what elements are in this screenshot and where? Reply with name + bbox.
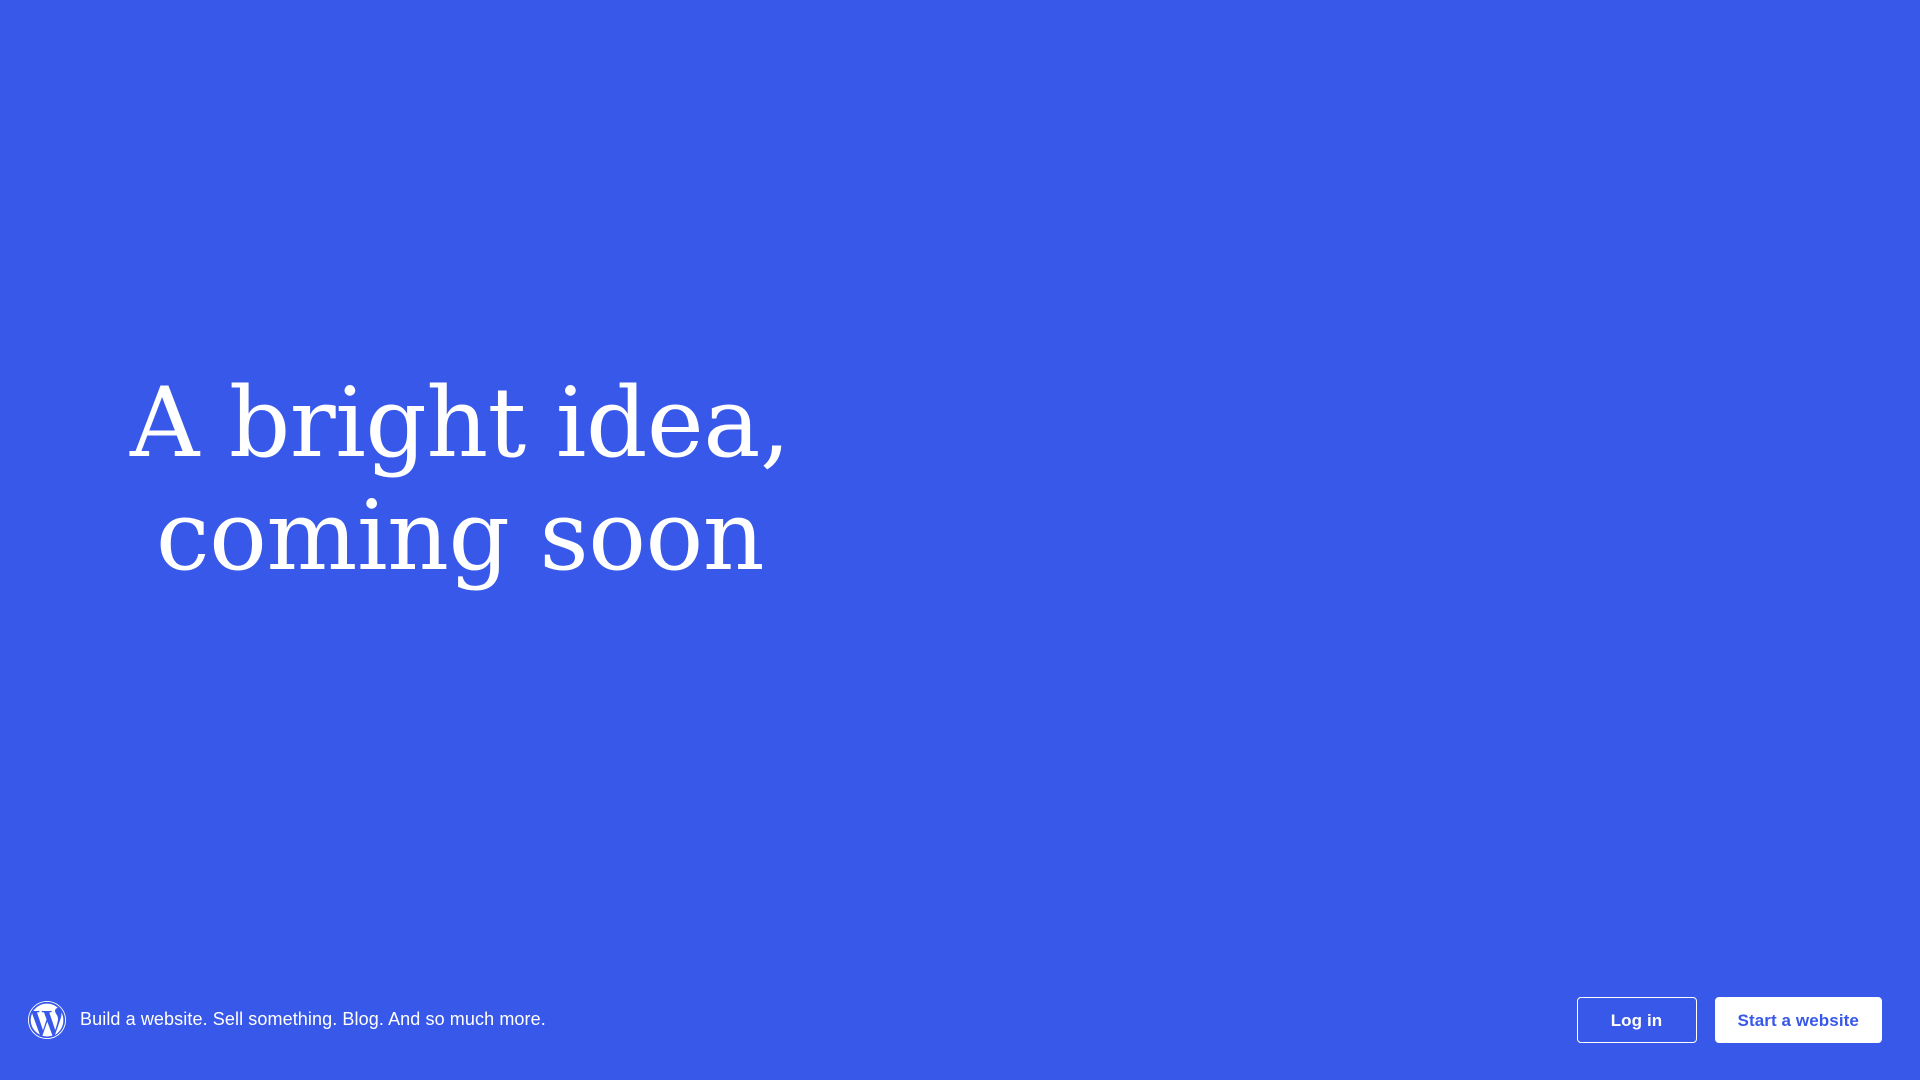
- page-title: A bright idea, coming soon: [130, 367, 790, 594]
- footer-bar: Build a website. Sell something. Blog. A…: [0, 960, 1920, 1080]
- start-a-website-button[interactable]: Start a website: [1715, 997, 1883, 1043]
- footer-tagline: Build a website. Sell something. Blog. A…: [80, 1009, 546, 1031]
- hero-inner: A bright idea, coming soon: [110, 367, 810, 594]
- hero-section: A bright idea, coming soon: [0, 0, 1920, 960]
- coming-soon-page: A bright idea, coming soon Build a websi…: [0, 0, 1920, 1080]
- log-in-button[interactable]: Log in: [1577, 997, 1697, 1043]
- wordpress-logo[interactable]: [28, 1001, 66, 1039]
- footer-branding: Build a website. Sell something. Blog. A…: [28, 1001, 546, 1039]
- footer-actions: Log in Start a website: [1577, 997, 1883, 1043]
